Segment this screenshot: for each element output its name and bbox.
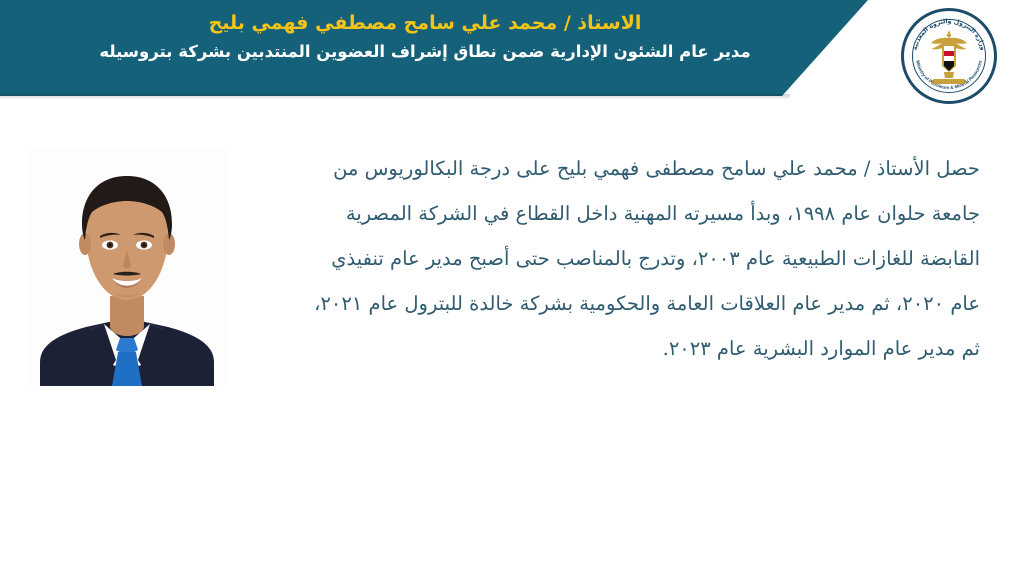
biography-paragraph: حصل الأستاذ / محمد علي سامح مصطفى فهمي ب… [268, 146, 980, 371]
bio-line: القابضة للغازات الطبيعية عام ٢٠٠٣، وتدرج… [268, 236, 980, 281]
header-banner-shape [0, 0, 868, 96]
header-banner: الاستاذ / محمد علي سامح مصطفي فهمي بليح … [0, 0, 1024, 100]
page-subtitle: مدير عام الشئون الإدارية ضمن نطاق إشراف … [0, 38, 850, 66]
ministry-logo-icon: وزارة البترول والثروة المعدنية Ministry … [901, 8, 997, 104]
page-title: الاستاذ / محمد علي سامح مصطفي فهمي بليح [0, 8, 850, 38]
header-text-block: الاستاذ / محمد علي سامح مصطفي فهمي بليح … [0, 8, 850, 66]
logo-emblem-icon: وزارة البترول والثروة المعدنية Ministry … [901, 8, 997, 104]
bio-line: عام ٢٠٢٠، ثم مدير عام العلاقات العامة وا… [268, 281, 980, 326]
portrait-illustration [28, 148, 226, 386]
profile-slide: الاستاذ / محمد علي سامح مصطفي فهمي بليح … [0, 0, 1024, 576]
bio-line: حصل الأستاذ / محمد علي سامح مصطفى فهمي ب… [268, 146, 980, 191]
portrait-photo [28, 148, 226, 386]
header-banner-shadow [0, 94, 790, 100]
eagle-of-saladin-icon [931, 31, 967, 85]
bio-line: ثم مدير عام الموارد البشرية عام ٢٠٢٣. [268, 326, 980, 371]
bio-line: جامعة حلوان عام ١٩٩٨، وبدأ مسيرته المهني… [268, 191, 980, 236]
